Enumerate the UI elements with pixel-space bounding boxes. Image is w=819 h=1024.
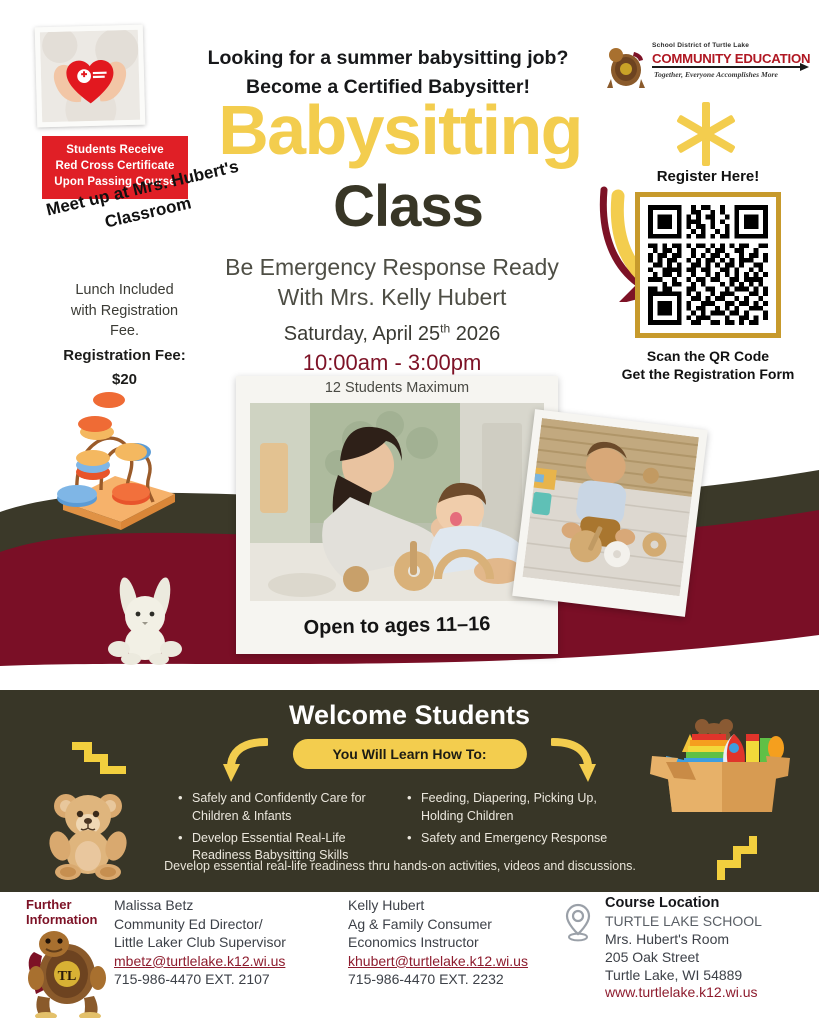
list-item: Feeding, Diapering, Picking Up, Holding … xyxy=(407,790,618,826)
lunch-line-1: Lunch Included xyxy=(32,280,217,301)
qr-code[interactable] xyxy=(635,192,781,338)
svg-text:TL: TL xyxy=(58,969,77,984)
turtle-mascot-icon xyxy=(604,42,648,94)
babysitter-photo-illustration xyxy=(250,403,544,601)
contact1-role-line-2: Little Laker Club Supervisor xyxy=(114,933,336,952)
toy-box-illustration xyxy=(648,718,790,828)
location-line-3: 205 Oak Street xyxy=(605,949,819,967)
babysitter-with-baby-photo xyxy=(250,403,544,601)
badge-line-1: Students Receive xyxy=(46,143,184,159)
turtle-mascot-icon: TL xyxy=(24,922,110,1018)
event-date-ordinal: th xyxy=(440,321,450,335)
baby-photo-illustration xyxy=(523,418,699,596)
map-pin-icon xyxy=(560,902,596,942)
contact2-phone: 715-986-4470 EXT. 2232 xyxy=(348,970,568,989)
logo-district-text: School District of Turtle Lake xyxy=(652,42,749,49)
list-item: Safely and Confidently Care for Children… xyxy=(178,790,389,826)
photo-card-secondary xyxy=(512,409,708,617)
contact1-email-link[interactable]: mbetz@turtlelake.k12.wi.us xyxy=(114,952,285,971)
contact-malissa-betz: Malissa Betz Community Ed Director/ Litt… xyxy=(114,896,336,989)
arrow-left-curve-icon xyxy=(222,736,268,784)
district-logo: School District of Turtle Lake COMMUNITY… xyxy=(600,38,815,100)
location-line-4: Turtle Lake, WI 54889 xyxy=(605,967,819,985)
qr-sub-line-2: Get the Registration Form xyxy=(608,365,808,383)
qr-heading: Register Here! xyxy=(608,168,808,185)
hook-line-1: Looking for a summer babysitting job? xyxy=(178,44,598,73)
logo-program-text: COMMUNITY EDUCATION xyxy=(652,51,810,66)
stuffed-bunny-illustration xyxy=(95,575,195,665)
location-line-1: TURTLE LAKE SCHOOL xyxy=(605,913,819,931)
contact2-name: Kelly Hubert xyxy=(348,896,568,915)
contact2-role-line-1: Ag & Family Consumer xyxy=(348,915,568,934)
qr-code-image xyxy=(648,205,768,325)
arrow-right-curve-icon xyxy=(551,736,597,784)
contact1-role-line-1: Community Ed Director/ xyxy=(114,915,336,934)
registration-fee-amount: $20 xyxy=(32,369,217,390)
event-date: Saturday, April 25th 2026 xyxy=(172,321,612,347)
flyer-page: Looking for a summer babysitting job? Be… xyxy=(0,0,819,1024)
baby-with-wooden-toys-photo xyxy=(523,418,699,596)
lunch-line-2: with Registration xyxy=(32,301,217,322)
contact1-name: Malissa Betz xyxy=(114,896,336,915)
subtitle-line-1: Be Emergency Response Ready xyxy=(172,253,612,283)
qr-sub-line-1: Scan the QR Code xyxy=(608,347,808,365)
registration-fee-label: Registration Fee: xyxy=(32,345,217,366)
location-heading: Course Location xyxy=(605,894,819,912)
contact2-role-line-2: Economics Instructor xyxy=(348,933,568,952)
event-time: 10:00am - 3:00pm xyxy=(172,349,612,378)
students-max-caption: 12 Students Maximum xyxy=(236,380,558,396)
qr-subtext: Scan the QR Code Get the Registration Fo… xyxy=(608,347,808,383)
further-info-line-1: Further xyxy=(26,898,118,913)
course-location-block: Course Location TURTLE LAKE SCHOOL Mrs. … xyxy=(605,894,819,1002)
event-details: Be Emergency Response Ready With Mrs. Ke… xyxy=(172,253,612,377)
location-website[interactable]: www.turtlelake.k12.wi.us xyxy=(605,984,819,1002)
list-item: Safety and Emergency Response xyxy=(407,830,618,848)
contact2-email-link[interactable]: khubert@turtlelake.k12.wi.us xyxy=(348,952,528,971)
subtitle-line-2: With Mrs. Kelly Hubert xyxy=(172,283,612,313)
zigzag-left-icon xyxy=(68,742,130,782)
logo-arrow-icon xyxy=(800,63,809,71)
red-cross-heart-photo xyxy=(35,25,146,128)
logo-rule xyxy=(652,66,800,68)
location-line-2: Mrs. Hubert's Room xyxy=(605,931,819,949)
learn-how-to-pill: You Will Learn How To: xyxy=(292,739,526,769)
photo-card-main: 12 Students Maximum xyxy=(236,376,558,654)
lunch-line-3: Fee. xyxy=(32,321,217,342)
teddy-bear-illustration xyxy=(38,780,142,880)
hands-holding-heart-illustration xyxy=(40,30,140,123)
bead-maze-toy-illustration xyxy=(35,390,190,535)
lunch-and-fee-block: Lunch Included with Registration Fee. Re… xyxy=(32,280,217,390)
event-date-year: 2026 xyxy=(450,323,500,345)
contact1-phone: 715-986-4470 EXT. 2107 xyxy=(114,970,336,989)
qr-register-block[interactable]: Register Here! xyxy=(608,168,808,383)
footer-contact-bar: Further Information TL Malissa Betz Comm… xyxy=(0,892,819,1024)
logo-tagline-text: Together, Everyone Accomplishes More xyxy=(654,70,778,79)
event-date-prefix: Saturday, April 25 xyxy=(284,323,440,345)
welcome-note: Develop essential real-life readiness th… xyxy=(140,858,660,876)
zigzag-right-icon xyxy=(705,832,757,884)
age-range-caption: Open to ages 11–16 xyxy=(236,612,558,642)
starburst-icon xyxy=(672,100,740,168)
contact-kelly-hubert: Kelly Hubert Ag & Family Consumer Econom… xyxy=(348,896,568,989)
